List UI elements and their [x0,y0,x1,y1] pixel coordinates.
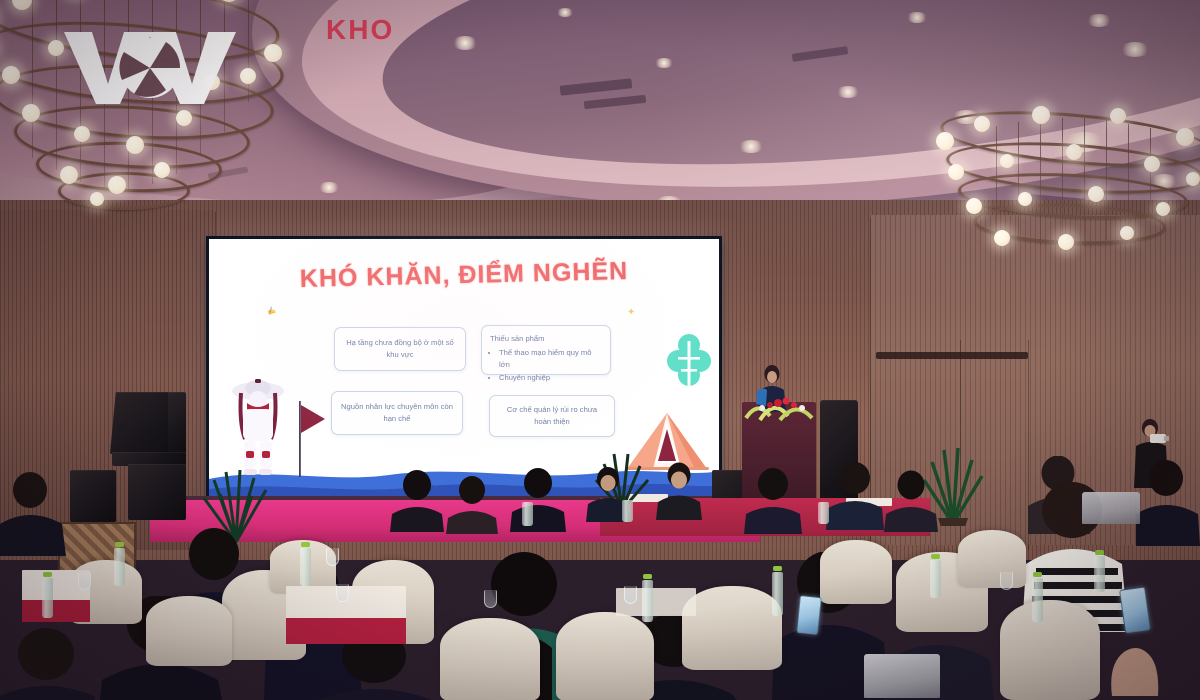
venue-sign-text: KHO [326,14,394,46]
chandelier-bulb [1156,202,1170,216]
bottle-cap [115,542,124,547]
vov-watermark [62,28,238,106]
chair [682,586,782,670]
bottle-cap [301,542,310,547]
chandelier-rod [32,0,33,158]
water-bottle [300,548,311,586]
chandelier-bulb [1058,234,1074,250]
flower-arrangement [740,392,824,422]
downlight [738,140,764,153]
chandelier-rod [1084,118,1085,246]
downlight [836,86,860,98]
chandelier-bulb [176,110,192,126]
wine-glass [326,548,339,566]
water-bottle [642,580,653,622]
chandelier-rod [1040,120,1041,246]
laptop[interactable] [864,654,940,698]
downlight [906,12,928,23]
bottle-cap [43,572,52,577]
wine-glass [1000,572,1013,590]
water-bottle [522,502,533,526]
chandelier-bulb [994,230,1010,246]
water-bottle [1094,556,1105,592]
chandelier-bulb [1186,172,1200,186]
chandelier-rod [1106,120,1107,240]
wine-glass [484,590,497,608]
bottle-cap [931,554,940,559]
water-bottle [1032,578,1043,622]
slide-card-risk-management: Cơ chế quản lý rủi ro chưa hoàn thiện [489,395,615,437]
chair [958,530,1026,588]
chandelier-bulb [1032,106,1050,124]
wine-glass [624,586,637,604]
bottle-cap [1033,572,1042,577]
slide-card-products-bullet: Chuyên nghiệp [499,372,602,384]
audience-person [0,472,66,556]
bottle-cap [773,566,782,571]
water-bottle [114,548,125,586]
chandelier-bulb [936,132,954,150]
water-bottle [42,578,53,618]
laptop[interactable] [1082,492,1140,524]
chandelier-bulb [60,166,78,184]
panelist [656,462,702,520]
chair [820,540,892,604]
chandelier-bulb [90,192,104,206]
chandelier-bulb [240,68,256,84]
chair [440,618,540,700]
wine-glass [78,572,91,590]
wall-rail [876,352,1028,359]
chandelier-rod [996,126,997,236]
audience-person [0,628,96,700]
chandelier-bulb [1144,156,1160,172]
chandelier-bulb [1120,226,1134,240]
slide-card-products: Thiếu sản phẩm Thể thao mạo hiểm quy mô … [481,325,611,375]
chandelier-bulb [2,66,20,84]
chandelier-bulb [1176,128,1194,146]
slide-title: KHÓ KHĂN, ĐIỂM NGHẼN [209,255,719,296]
bottle-cap [1095,550,1104,555]
audience-person [446,476,498,534]
chandelier-rod [1128,124,1129,228]
chandelier-bulb [264,44,282,62]
chair [146,596,232,666]
water-bottle [772,572,783,616]
chandelier-bulb [154,162,170,178]
slide-card-products-heading: Thiếu sản phẩm [490,333,602,345]
audience-person [390,470,444,532]
downlight [1086,14,1112,27]
chandelier-bulb [948,164,964,180]
chandelier-rod [248,0,249,102]
chandelier-ring [58,172,190,210]
chandelier-bulb [966,198,982,214]
chandelier-bulb [108,176,126,194]
audience-person [744,468,802,534]
banquet-table-skirt [22,600,90,622]
water-bottle [930,560,941,598]
chandelier-bulb [1088,186,1104,202]
chandelier-bulb [22,104,40,122]
chair [1000,600,1100,700]
slide-card-infrastructure: Hạ tầng chưa đồng bộ ở một số khu vực [334,327,466,371]
slide-card-infrastructure-text: Hạ tầng chưa đồng bộ ở một số khu vực [343,337,457,361]
downlight [654,58,674,68]
chandelier-bulb [74,126,90,142]
slide-card-products-bullet: Thể thao mạo hiểm quy mô lớn [499,347,602,371]
hand-holding-phone [1102,612,1172,696]
chandelier-bulb [1018,192,1032,206]
slide-hiker-illustration [225,367,291,479]
pa-speaker-side [168,392,186,454]
bottle-cap [643,574,652,579]
chandelier-rod [1018,122,1019,242]
water-bottle [622,500,633,522]
slide-card-risk-management-text: Cơ chế quản lý rủi ro chưa hoàn thiện [498,404,606,428]
downlight [452,36,478,50]
smartphone[interactable] [796,595,822,635]
chandelier-rod [56,0,57,170]
audience-person [884,470,938,532]
chandelier-right [940,110,1200,260]
chandelier-bulb [126,136,144,154]
chandelier-bulb [1110,108,1126,124]
water-bottle [818,502,829,524]
wine-glass [336,584,349,602]
banquet-table-skirt [286,618,406,644]
chair [556,612,654,700]
audience-person [826,462,884,530]
slide-tree-illustration [667,331,711,389]
slide-flag-illustration [293,401,327,477]
chandelier-bulb [1000,154,1014,168]
chandelier-rod [1062,118,1063,248]
slide-card-human-resources-text: Nguồn nhân lực chuyên môn còn hạn chế [340,401,454,425]
slide-card-human-resources: Nguồn nhân lực chuyên môn còn hạn chế [331,391,463,435]
audience-person [1136,460,1200,546]
pa-speaker-bottom [128,464,186,520]
audience-person [510,468,566,532]
pa-speaker-lower-left [70,470,116,522]
downlight [1120,42,1150,57]
chandelier-bulb [1066,144,1082,160]
conference-hall-photo: KHO [0,0,1200,700]
slide-doodle: ✍ [266,306,277,317]
slide-doodle: ✦ [627,307,635,318]
downlight [556,8,574,17]
chandelier-bulb [974,116,990,132]
